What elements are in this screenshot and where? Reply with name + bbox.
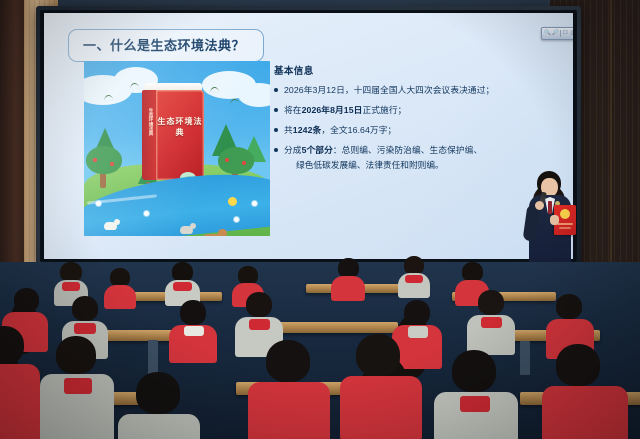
bullet-text-line2: 绿色低碳发展编、法律责任和附则编。 — [296, 159, 482, 172]
slide-info-panel: 基本信息 2026年3月12日，十四届全国人大四次会议表决通过； 将在2026年… — [272, 63, 558, 179]
book-spine: 生态环境法典 — [142, 90, 157, 180]
bullet-text: 将在2026年8月15日正式施行； — [284, 104, 406, 117]
page-icon[interactable]: ▯ — [570, 30, 573, 37]
student-head — [556, 294, 582, 319]
apple-icon — [93, 158, 97, 162]
apple-icon — [110, 162, 114, 166]
apple-icon — [242, 161, 246, 165]
flower-icon — [144, 211, 149, 216]
student-head — [356, 334, 400, 376]
bullet-dot-icon — [274, 88, 278, 92]
red-scarf — [460, 396, 490, 412]
student-head — [172, 262, 193, 282]
bullet-text-group: 分成5个部分：总则编、污染防治编、生态保护编、 绿色低碳发展编、法律责任和附则编… — [284, 144, 482, 172]
student-head — [246, 292, 272, 317]
list-item: 将在2026年8月15日正式施行； — [272, 104, 558, 117]
left-wall-dark-panel — [0, 0, 26, 300]
student-torso — [542, 386, 628, 439]
capture-icon[interactable]: ☐ — [563, 30, 568, 37]
red-scarf — [64, 378, 92, 394]
book-cover-title: 生态环境法典 — [156, 116, 204, 138]
red-scarf — [62, 282, 80, 291]
student-head — [404, 300, 430, 325]
chick-icon — [228, 197, 237, 206]
bullet-dot-icon — [274, 128, 278, 132]
duck-head — [114, 219, 120, 225]
student-torso — [118, 414, 200, 439]
student-torso — [331, 276, 365, 301]
leafy-tree-icon — [218, 147, 254, 174]
flower-icon — [96, 201, 101, 206]
zoom-out-icon[interactable]: 🔍 — [544, 30, 550, 37]
student-head — [266, 340, 310, 382]
book-spine-title: 生态环境法典 — [145, 108, 154, 136]
leafy-tree-icon — [86, 146, 122, 174]
red-scarf — [481, 317, 502, 328]
classroom-scene: 一、什么是生态环境法典？ — [0, 0, 640, 439]
desk — [272, 322, 398, 333]
annotation-toolbar[interactable]: 🔍 🔎 ☐ ▯ ✎ ▾ 批注工具 × — [541, 27, 573, 40]
student-head — [180, 300, 206, 325]
flower-icon — [234, 217, 239, 222]
duck-head — [190, 223, 196, 229]
student-head — [14, 288, 39, 312]
bullet-text: 分成5个部分：总则编、污染防治编、生态保护编、 — [284, 144, 482, 157]
student-torso — [104, 285, 136, 309]
bullet-text: 2026年3月12日，十四届全国人大四次会议表决通过； — [284, 84, 494, 97]
presenter-hand-booklet — [550, 215, 559, 225]
student-head — [60, 262, 82, 282]
student-head — [72, 296, 98, 321]
list-item: 2026年3月12日，十四届全国人大四次会议表决通过； — [272, 84, 558, 97]
slide-illustration: 生态环境法典 生态环境法典 — [84, 61, 270, 236]
presenter-hand-mic — [535, 201, 544, 210]
presenter-tie — [548, 201, 552, 214]
red-scarf — [173, 282, 192, 291]
toolbar-divider — [560, 30, 561, 37]
student-torso — [0, 364, 40, 439]
law-code-book: 生态环境法典 生态环境法典 — [142, 88, 204, 180]
bullet-text: 共1242条，全文16.64万字； — [284, 124, 396, 137]
booklet-title-line — [557, 223, 573, 225]
apple-icon — [225, 158, 229, 162]
presentation-slide[interactable]: 一、什么是生态环境法典？ — [44, 13, 573, 259]
national-emblem-icon — [560, 209, 570, 219]
desk-leg — [148, 340, 158, 376]
list-item: 分成5个部分：总则编、污染防治编、生态保护编、 绿色低碳发展编、法律责任和附则编… — [272, 144, 558, 172]
red-scarf — [405, 275, 423, 283]
student-torso — [340, 376, 422, 439]
student-head — [556, 344, 600, 386]
student-head — [338, 258, 359, 278]
student-head — [462, 262, 483, 282]
collar — [184, 326, 204, 336]
student-head — [478, 290, 504, 315]
collar — [408, 326, 428, 338]
bullet-dot-icon — [274, 108, 278, 112]
info-heading: 基本信息 — [274, 63, 558, 77]
student-head — [136, 372, 180, 414]
zoom-in-icon[interactable]: 🔎 — [552, 30, 558, 37]
list-item: 共1242条，全文16.64万字； — [272, 124, 558, 137]
booklet-subtitle-line — [559, 227, 571, 229]
red-scarf — [249, 319, 270, 330]
slide-title-box: 一、什么是生态环境法典？ — [68, 29, 264, 62]
page-title: 一、什么是生态环境法典？ — [83, 38, 245, 53]
bullet-dot-icon — [274, 148, 278, 152]
red-scarf — [74, 323, 96, 334]
student-head — [56, 336, 96, 374]
flower-icon — [252, 201, 257, 206]
desk-leg — [520, 341, 530, 375]
student-torso — [248, 382, 330, 439]
book-front-cover: 生态环境法典 — [156, 90, 204, 180]
bird-icon — [230, 98, 240, 105]
student-head — [452, 350, 496, 392]
cloud-icon — [238, 83, 270, 107]
